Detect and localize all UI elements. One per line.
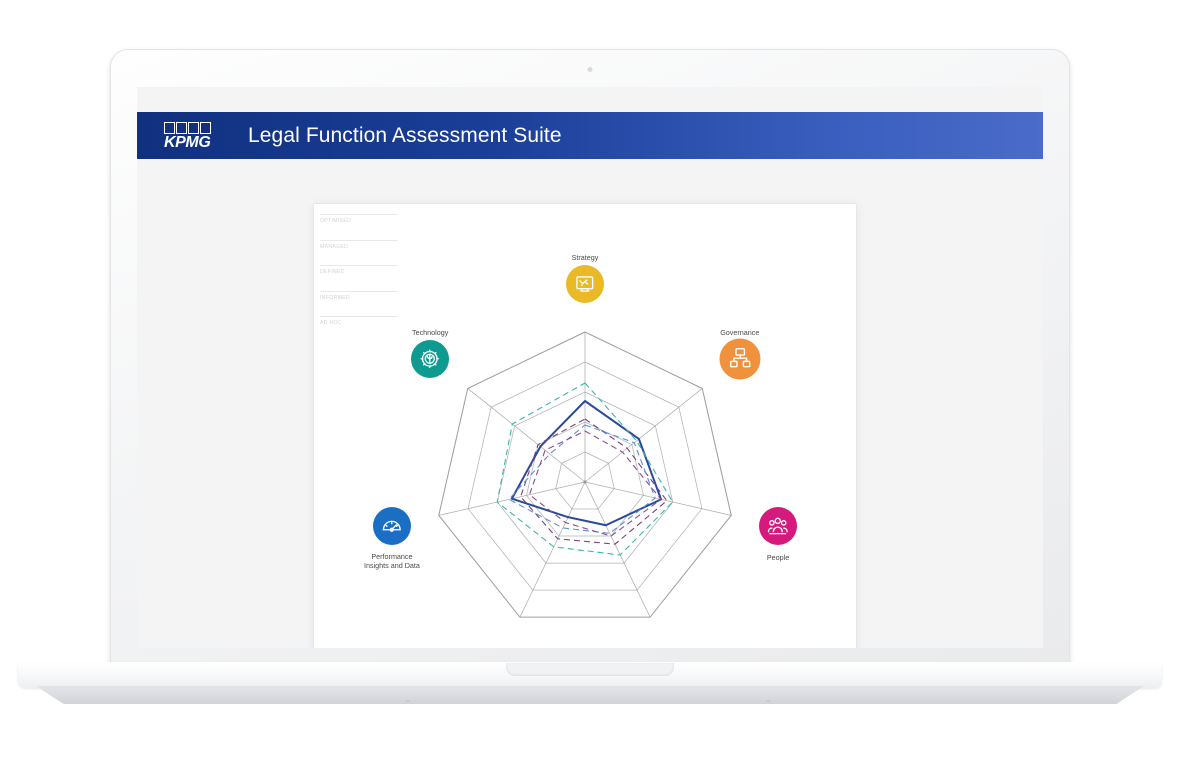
axis-bubble-performance-insights-and-data[interactable] — [373, 507, 411, 545]
axis-label-governance: Governance — [720, 329, 759, 338]
people-group-icon — [766, 514, 790, 538]
maturity-divider — [320, 316, 398, 317]
radar-chart[interactable]: StrategyGovernancePeopleService Delivery… — [314, 204, 856, 648]
maturity-level-label: AD HOC — [320, 320, 398, 326]
laptop-lid: KPMG Legal Function Assessment Suite Str… — [110, 49, 1070, 669]
axis-bubble-people[interactable] — [759, 507, 797, 545]
kpmg-wordmark: KPMG — [164, 135, 226, 150]
radar-series-benchmark-c — [509, 425, 655, 533]
maturity-divider — [320, 291, 398, 292]
webcam-icon — [588, 67, 593, 72]
maturity-level-row: INFORMED — [320, 291, 398, 301]
page-title: Legal Function Assessment Suite — [248, 124, 562, 148]
kpmg-logo: KPMG — [164, 122, 226, 150]
axis-label-performance-insights-and-data: PerformanceInsights and Data — [364, 553, 420, 570]
maturity-level-label: DEFINED — [320, 269, 398, 275]
axis-label-people: People — [767, 554, 789, 563]
maturity-divider — [320, 214, 398, 215]
tech-emblem-icon — [418, 347, 442, 371]
axis-bubble-governance[interactable] — [719, 338, 760, 379]
screenshot-root: KPMG Legal Function Assessment Suite Str… — [0, 0, 1180, 766]
org-chart-icon — [727, 346, 752, 371]
axis-label-strategy: Strategy — [572, 254, 599, 263]
assessment-card: StrategyGovernancePeopleService Delivery… — [314, 204, 856, 648]
axis-bubble-strategy[interactable] — [566, 265, 604, 303]
laptop-foot-dot-left — [406, 700, 410, 702]
maturity-divider — [320, 265, 398, 266]
laptop-foot-dot-right — [766, 700, 770, 702]
radar-series-benchmark-b — [521, 419, 667, 544]
maturity-level-row: MANAGED — [320, 240, 398, 250]
app-header-bar: KPMG Legal Function Assessment Suite — [137, 112, 1043, 159]
maturity-level-label: INFORMED — [320, 295, 398, 301]
maturity-level-row: AD HOC — [320, 316, 398, 326]
laptop-base-notch — [506, 663, 674, 676]
kpmg-logo-boxes — [164, 122, 226, 134]
axis-bubble-technology[interactable] — [411, 340, 449, 378]
maturity-divider — [320, 240, 398, 241]
maturity-level-label: OPTIMISED — [320, 218, 398, 224]
maturity-level-row: DEFINED — [320, 265, 398, 275]
laptop-screen: KPMG Legal Function Assessment Suite Str… — [137, 87, 1043, 648]
maturity-level-row: OPTIMISED — [320, 214, 398, 224]
maturity-level-label: MANAGED — [320, 244, 398, 250]
axis-label-technology: Technology — [412, 329, 448, 338]
laptop-foot — [36, 686, 1144, 704]
strategy-board-icon — [573, 272, 597, 296]
gauge-icon — [380, 514, 404, 538]
